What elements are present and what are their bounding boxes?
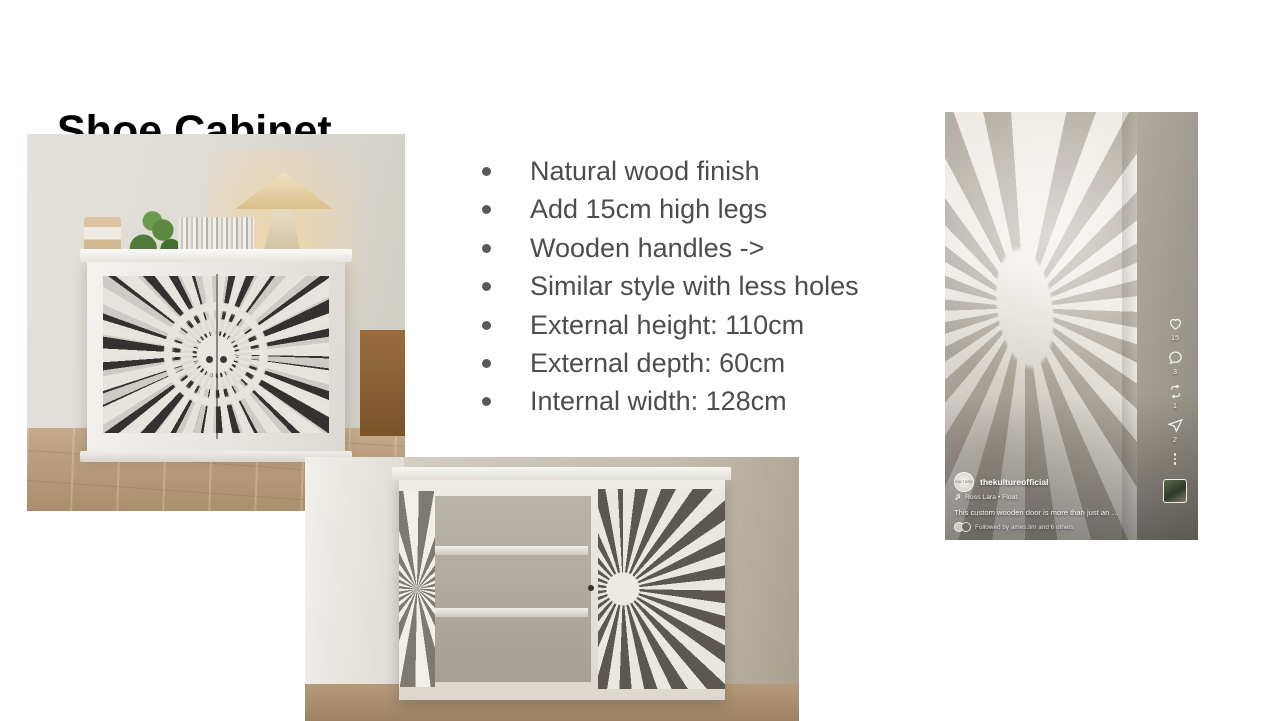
reel-username[interactable]: thekultureofficial — [980, 477, 1048, 488]
repost-icon — [1167, 383, 1184, 400]
list-item: External depth: 60cm — [476, 344, 946, 382]
list-item: Internal width: 128cm — [476, 382, 946, 420]
bullet-dot-icon — [482, 167, 491, 176]
carved-door-panel — [598, 489, 725, 689]
bullet-list: Natural wood finish Add 15cm high legs W… — [476, 152, 946, 421]
avatar: KULTURE — [954, 472, 974, 492]
image-instagram-reel: 15 3 1 2 — [945, 112, 1198, 540]
cabinet-top-rail — [392, 467, 731, 480]
list-item: Wooden handles -> — [476, 229, 946, 267]
send-count: 2 — [1173, 434, 1177, 445]
bullet-dot-icon — [482, 397, 491, 406]
cabinet-top-rail — [80, 249, 352, 263]
comment-count: 3 — [1173, 366, 1177, 377]
bullet-dot-icon — [482, 282, 491, 291]
repost-count: 1 — [1173, 400, 1177, 411]
list-item-label: External depth: 60cm — [530, 348, 785, 378]
bullet-dot-icon — [482, 205, 491, 214]
list-item-label: Similar style with less holes — [530, 271, 859, 301]
music-note-icon — [954, 493, 962, 501]
list-item-label: Natural wood finish — [530, 156, 760, 186]
more-options-icon — [1174, 451, 1177, 467]
image-open-cabinet — [305, 457, 799, 721]
list-item: Similar style with less holes — [476, 267, 946, 305]
more-options-action[interactable] — [1174, 451, 1177, 467]
like-count: 15 — [1171, 332, 1179, 343]
presentation-slide: Shoe Cabinet Natural wood finish Add 15c… — [0, 0, 1280, 721]
repost-action[interactable]: 1 — [1167, 383, 1184, 411]
bullet-dot-icon — [482, 244, 491, 253]
door-split-line — [216, 274, 218, 439]
send-action[interactable]: 2 — [1167, 417, 1184, 445]
list-item-label: Internal width: 128cm — [530, 386, 787, 416]
reel-caption[interactable]: This custom wooden door is more than jus… — [954, 507, 1154, 518]
shelf — [431, 546, 587, 555]
door-knob — [588, 585, 594, 591]
reel-overlay-meta: KULTURE thekultureofficial Ross Lara • F… — [954, 472, 1154, 532]
cabinet-body — [87, 258, 344, 454]
send-icon — [1167, 417, 1184, 434]
reel-followed-by-row[interactable]: Followed by ames.lim and 6 others — [954, 522, 1154, 532]
reel-action-rail: 15 3 1 2 — [1158, 315, 1192, 503]
cabinet-interior — [428, 496, 591, 682]
reel-followed-by-label: Followed by ames.lim and 6 others — [975, 524, 1074, 531]
open-door-panel — [399, 491, 435, 686]
list-item: External height: 110cm — [476, 306, 946, 344]
cabinet-body — [399, 478, 725, 700]
list-item: Natural wood finish — [476, 152, 946, 190]
curtain-decor — [305, 457, 404, 684]
reel-user-row[interactable]: KULTURE thekultureofficial — [954, 472, 1154, 492]
heart-icon — [1167, 315, 1184, 332]
comment-action[interactable]: 3 — [1167, 349, 1184, 377]
list-item-label: External height: 110cm — [530, 310, 804, 340]
side-table — [360, 330, 405, 436]
like-action[interactable]: 15 — [1167, 315, 1184, 343]
bullet-dot-icon — [482, 321, 491, 330]
comment-icon — [1167, 349, 1184, 366]
bullet-dot-icon — [482, 359, 491, 368]
list-item: Add 15cm high legs — [476, 190, 946, 228]
shelf — [431, 608, 587, 617]
audio-thumbnail[interactable] — [1163, 479, 1187, 503]
list-item-label: Add 15cm high legs — [530, 194, 767, 224]
image-left-cabinet — [27, 134, 405, 511]
follower-avatars — [954, 522, 971, 532]
list-item-label: Wooden handles -> — [530, 233, 764, 263]
reel-audio-label: Ross Lara • Float — [965, 494, 1017, 501]
reel-audio-row[interactable]: Ross Lara • Float — [954, 493, 1154, 501]
